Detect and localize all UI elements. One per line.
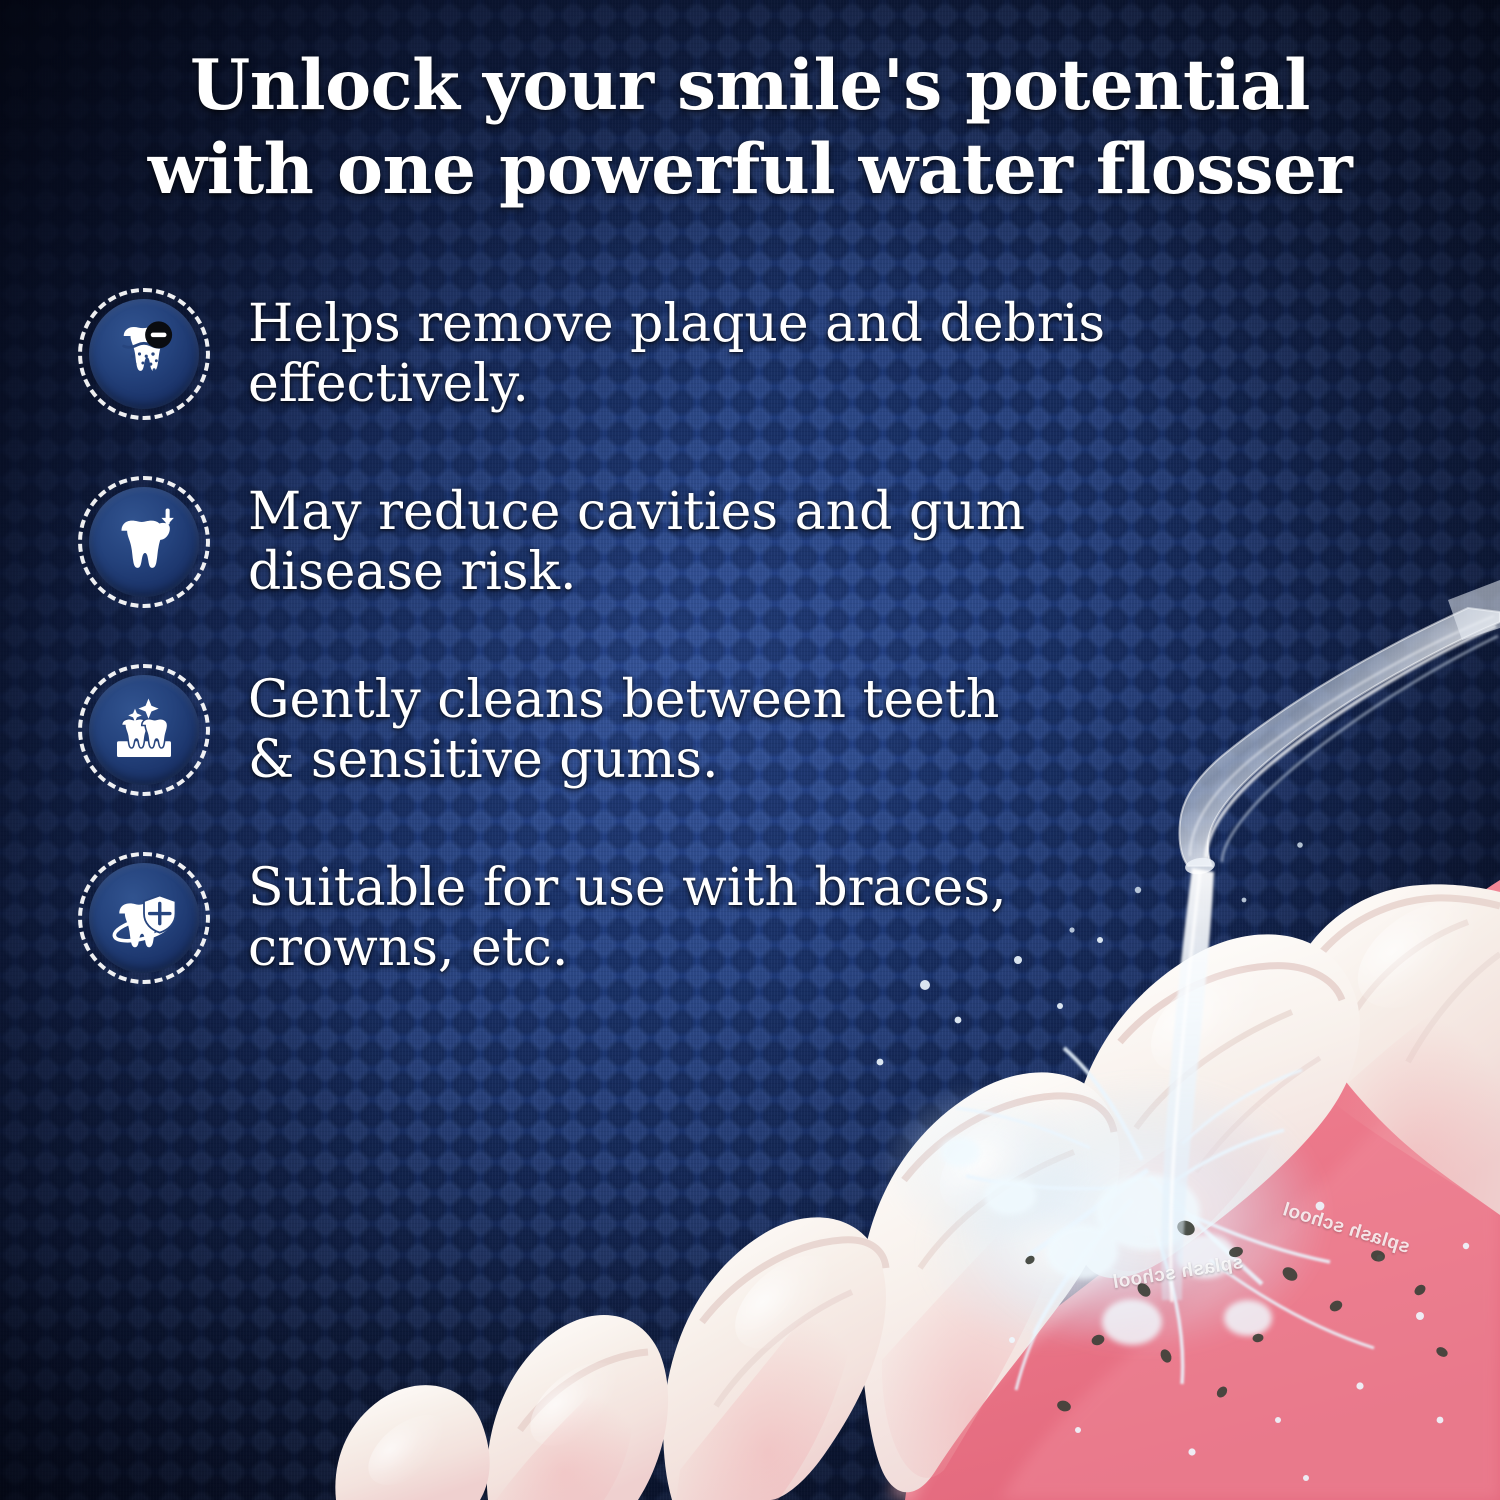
feature-2-line-2: disease risk.	[248, 542, 1258, 602]
feature-3-line-2: & sensitive gums.	[248, 730, 1258, 790]
feature-1-line-2: effectively.	[248, 354, 1258, 414]
feature-icon-badge-3	[78, 664, 210, 796]
feature-text-3: Gently cleans between teeth & sensitive …	[248, 664, 1258, 790]
feature-text-1: Helps remove plaque and debris effective…	[248, 288, 1258, 414]
icon-disc	[89, 675, 199, 785]
icon-disc	[89, 863, 199, 973]
feature-icon-badge-1	[78, 288, 210, 420]
teeth-gums-sparkle-icon	[108, 694, 180, 766]
feature-item-gentle-clean: Gently cleans between teeth & sensitive …	[78, 664, 1258, 796]
feature-4-line-2: crowns, etc.	[248, 918, 1258, 978]
tooth-minus-plaque-icon	[108, 318, 180, 390]
headline-line-2: with one powerful water flosser	[70, 128, 1430, 212]
feature-2-line-1: May reduce cavities and gum	[248, 482, 1258, 542]
feature-1-line-1: Helps remove plaque and debris	[248, 294, 1258, 354]
tooth-leaf-arrow-down-icon	[108, 506, 180, 578]
icon-disc	[89, 487, 199, 597]
icon-disc	[89, 299, 199, 409]
feature-4-line-1: Suitable for use with braces,	[248, 858, 1258, 918]
tooth-orbit-shield-icon	[108, 882, 180, 954]
feature-3-line-1: Gently cleans between teeth	[248, 670, 1258, 730]
feature-list: Helps remove plaque and debris effective…	[78, 288, 1258, 984]
feature-icon-badge-2	[78, 476, 210, 608]
headline: Unlock your smile's potential with one p…	[0, 44, 1500, 212]
feature-item-remove-plaque: Helps remove plaque and debris effective…	[78, 288, 1258, 420]
feature-icon-badge-4	[78, 852, 210, 984]
feature-item-braces-crowns: Suitable for use with braces, crowns, et…	[78, 852, 1258, 984]
headline-line-1: Unlock your smile's potential	[70, 44, 1430, 128]
feature-item-reduce-cavities: May reduce cavities and gum disease risk…	[78, 476, 1258, 608]
feature-text-4: Suitable for use with braces, crowns, et…	[248, 852, 1258, 978]
feature-text-2: May reduce cavities and gum disease risk…	[248, 476, 1258, 602]
product-feature-banner: Unlock your smile's potential with one p…	[0, 0, 1500, 1500]
